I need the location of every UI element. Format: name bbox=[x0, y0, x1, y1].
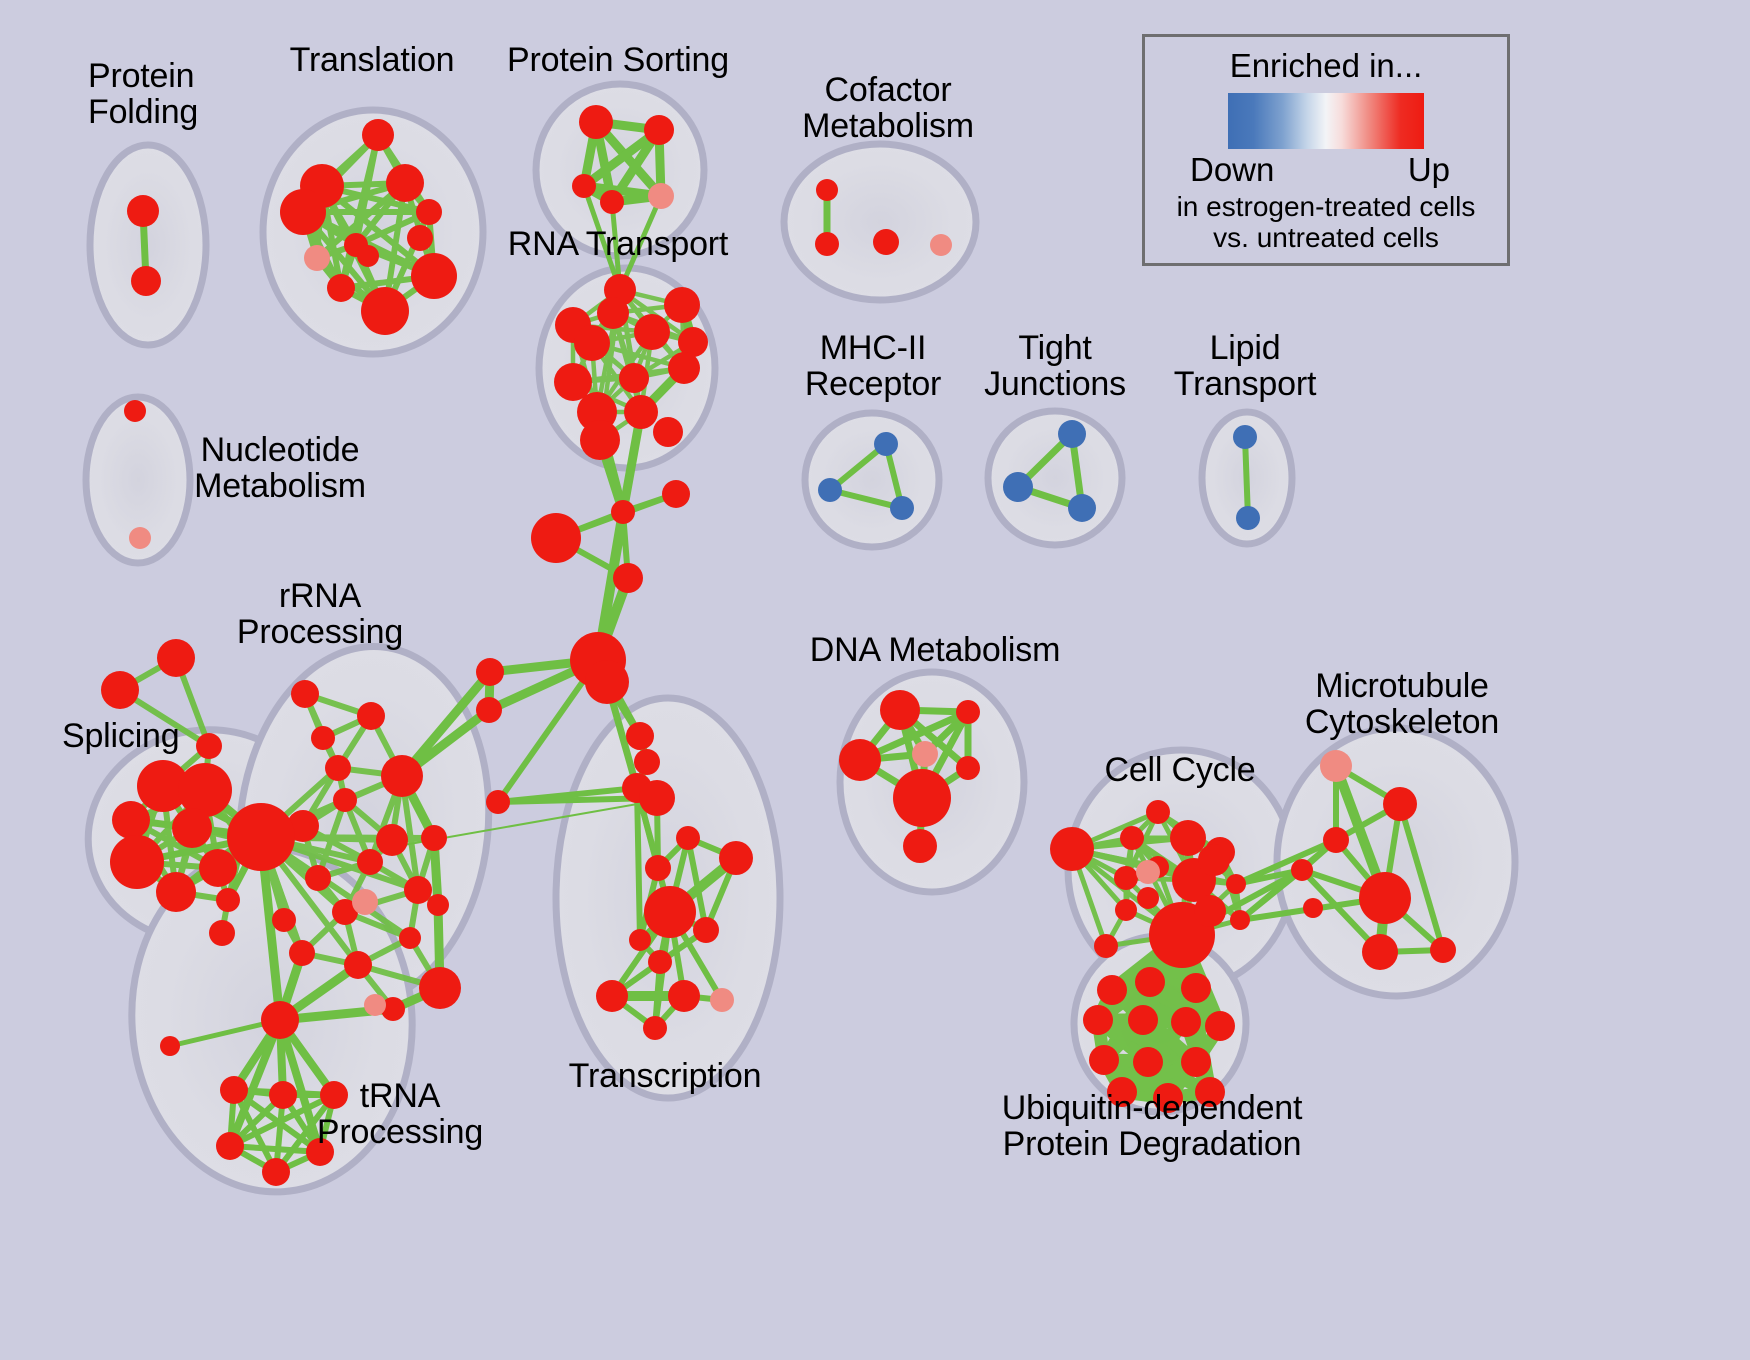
cluster-label-ubiquitin: Ubiquitin-dependent Protein Degradation bbox=[1002, 1090, 1303, 1162]
node-cell-cycle-mid bbox=[1136, 860, 1160, 884]
node-microtubule-mid bbox=[1320, 750, 1352, 782]
cluster-label-microtubule: Microtubule Cytoskeleton bbox=[1305, 668, 1499, 740]
legend-endpoints: Down Up bbox=[1186, 151, 1466, 191]
network-figure: Protein Folding Translation Protein Sort… bbox=[0, 0, 1750, 1360]
node-dna-metabolism-mid bbox=[912, 741, 938, 767]
node-protein-sorting-mid bbox=[648, 183, 674, 209]
cluster-label-cofactor-metabolism: Cofactor Metabolism bbox=[802, 72, 974, 144]
legend-low-label: Down bbox=[1190, 151, 1274, 189]
node-cofactor-mid bbox=[930, 234, 952, 256]
legend-box: Enriched in... Down Up in estrogen-treat… bbox=[1142, 34, 1510, 266]
cluster-label-nucleotide-metabolism: Nucleotide Metabolism bbox=[194, 432, 366, 504]
cluster-label-trna-processing: tRNA Processing bbox=[317, 1078, 483, 1150]
legend-title: Enriched in... bbox=[1145, 47, 1507, 85]
cluster-label-transcription: Transcription bbox=[569, 1058, 762, 1094]
legend-color-gradient-bar bbox=[1228, 93, 1424, 149]
legend-caption-line-2: vs. untreated cells bbox=[1145, 222, 1507, 253]
node-translation-mid bbox=[304, 245, 330, 271]
cluster-label-mhc-ii-receptor: MHC-II Receptor bbox=[805, 330, 941, 402]
cluster-label-protein-folding: Protein Folding bbox=[88, 58, 198, 130]
legend-high-label: Up bbox=[1408, 151, 1450, 189]
cluster-label-cell-cycle: Cell Cycle bbox=[1104, 752, 1255, 788]
cluster-label-rna-transport: RNA Transport bbox=[508, 226, 728, 262]
cluster-label-dna-metabolism: DNA Metabolism bbox=[810, 632, 1060, 668]
node-transcription-mid bbox=[710, 988, 734, 1012]
cluster-label-tight-junctions: Tight Junctions bbox=[984, 330, 1126, 402]
hull-protein-folding bbox=[90, 145, 206, 345]
cluster-label-lipid-transport: Lipid Transport bbox=[1174, 330, 1316, 402]
cluster-label-splicing: Splicing bbox=[62, 718, 179, 754]
cluster-label-translation: Translation bbox=[290, 42, 455, 78]
cluster-label-rrna-processing: rRNA Processing bbox=[237, 578, 403, 650]
legend-caption-line-1: in estrogen-treated cells bbox=[1145, 191, 1507, 222]
cluster-label-protein-sorting: Protein Sorting bbox=[507, 42, 729, 78]
hull-cofactor bbox=[784, 144, 976, 300]
